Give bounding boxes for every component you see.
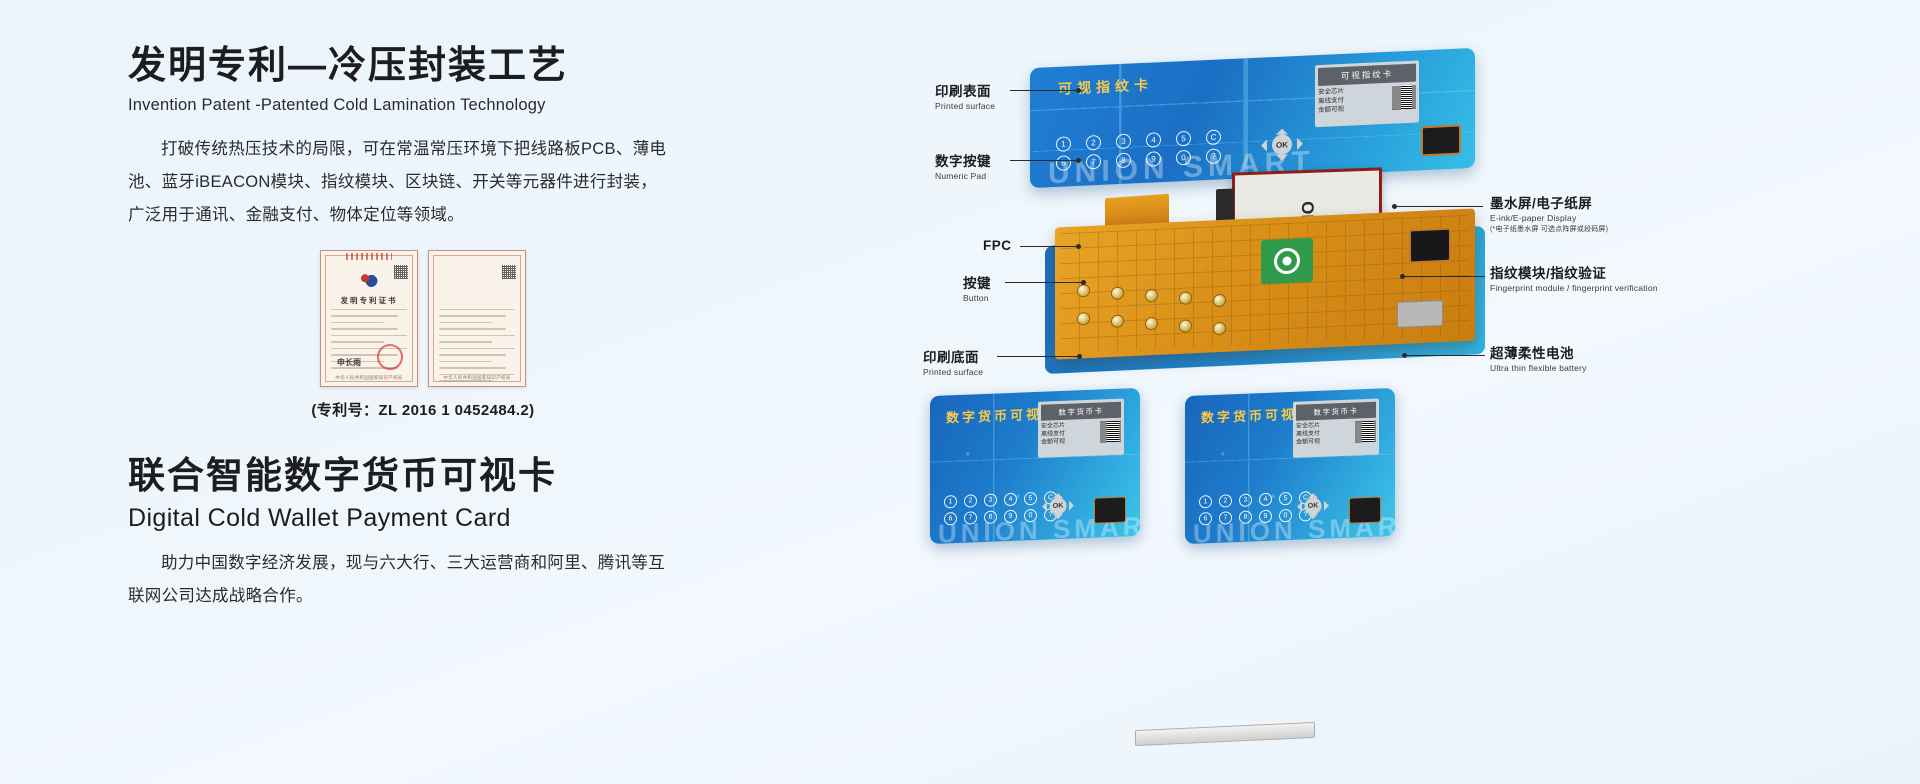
key-4: 4 xyxy=(1259,493,1272,506)
key-0: 0 xyxy=(1176,150,1191,166)
key-1: 1 xyxy=(1056,136,1071,152)
ok-button-label: OK xyxy=(1305,497,1322,515)
key-1: 1 xyxy=(1199,495,1212,508)
callout-fingerprint-module: 指纹模块/指纹验证 Fingerprint module / fingerpri… xyxy=(1490,262,1658,293)
pcb-trace-pattern-icon xyxy=(1061,215,1469,354)
screen-feature-lines: 安全芯片离线支付金额可视 xyxy=(1318,88,1344,115)
patent-office-logo-icon xyxy=(359,271,379,289)
key-5: 5 xyxy=(1024,492,1037,505)
callout-label-cn: FPC xyxy=(983,238,1012,253)
qr-code-icon xyxy=(394,265,408,279)
leader-line xyxy=(1395,206,1483,207)
callout-label-cn: 印刷底面 xyxy=(923,346,983,366)
callout-epaper-display: 墨水屏/电子纸屏 E-ink/E-paper Display (*电子纸墨水屏 … xyxy=(1490,192,1608,234)
callout-label-cn: 指纹模块/指纹验证 xyxy=(1490,262,1658,282)
key-3: 3 xyxy=(1116,134,1131,150)
fingerprint-sensor-icon xyxy=(1349,497,1381,524)
callout-numeric-pad: 数字按键 Numeric Pad xyxy=(935,150,991,181)
leader-line xyxy=(1020,246,1078,247)
callout-label-en: Printed surface xyxy=(935,101,995,111)
screen-feature-lines: 安全芯片离线支付金额可视 xyxy=(1296,423,1320,447)
directional-pad: OK xyxy=(1293,488,1333,524)
arrow-left-icon xyxy=(1255,139,1267,152)
callout-label-en: Button xyxy=(963,293,991,303)
flexible-battery-module xyxy=(1135,722,1315,746)
button-ring-icon xyxy=(1274,247,1300,274)
callout-label-en: Printed surface xyxy=(923,367,983,377)
screen-body: 安全芯片离线支付金额可视 xyxy=(1318,85,1416,116)
callout-flexible-battery: 超薄柔性电池 Ultra thin flexible battery xyxy=(1490,342,1587,373)
ornament-icon xyxy=(346,253,392,260)
key-2: 2 xyxy=(1219,494,1232,507)
key-4: 4 xyxy=(1146,132,1161,148)
key-8: 8 xyxy=(1116,153,1131,169)
callout-label-en: Numeric Pad xyxy=(935,171,991,181)
callout-label-en: Fingerprint module / fingerprint verific… xyxy=(1490,283,1658,293)
key-5: 5 xyxy=(1176,131,1191,147)
leader-line xyxy=(997,356,1079,357)
qr-code-icon xyxy=(1355,421,1376,443)
callout-label-cn: 数字按键 xyxy=(935,150,991,170)
key-c: C xyxy=(1206,129,1221,145)
qr-code-icon xyxy=(1392,85,1416,110)
key-4: 4 xyxy=(1004,493,1017,506)
fingerprint-sensor-icon xyxy=(1094,497,1126,524)
section2-heading-en: Digital Cold Wallet Payment Card xyxy=(128,504,708,533)
key-8: 8 xyxy=(1239,510,1252,523)
directional-pad: OK xyxy=(1257,124,1307,166)
key-9: 9 xyxy=(1259,510,1272,523)
arrow-left-icon xyxy=(1037,502,1047,512)
callout-label-note: (*电子纸墨水屏 可选点阵屏或段码屏) xyxy=(1490,224,1608,234)
callout-label-cn: 超薄柔性电池 xyxy=(1490,342,1587,362)
key-1: 1 xyxy=(944,495,957,508)
digital-currency-card-2: 数字货币可视卡 UNION SMART 数字货币卡 安全芯片离线支付金额可视 1… xyxy=(1185,388,1395,544)
key-6: 6 xyxy=(1056,155,1071,171)
callout-printed-bottom: 印刷底面 Printed surface xyxy=(923,346,983,377)
screen-body: 安全芯片离线支付金额可视 xyxy=(1041,421,1121,447)
leader-line xyxy=(1005,282,1083,283)
section1-heading-cn: 发明专利—冷压封装工艺 xyxy=(128,44,708,90)
key-6: 6 xyxy=(944,512,957,525)
digital-currency-card-1: 数字货币可视卡 UNION SMART 数字货币卡 安全芯片离线支付金额可视 1… xyxy=(930,388,1140,544)
arrow-down-icon xyxy=(1308,514,1318,524)
arrow-down-icon xyxy=(1276,154,1288,167)
card-display-screen: 可视指纹卡 安全芯片离线支付金额可视 xyxy=(1315,60,1419,127)
arrow-up-icon xyxy=(1276,122,1288,135)
arrow-left-icon xyxy=(1292,502,1302,512)
leader-line xyxy=(1403,276,1485,277)
screen-body: 安全芯片离线支付金额可视 xyxy=(1296,421,1376,447)
screen-feature-lines: 安全芯片离线支付金额可视 xyxy=(1041,423,1065,447)
section1-paragraph: 打破传统热压技术的局限，可在常温常压环境下把线路板PCB、薄电池、蓝牙iBEAC… xyxy=(128,133,673,232)
patent-certificate-gallery: 发明专利证书 申长雨 中华人民共和国国家知识产权局 中华人民共和国国家知识产权局 xyxy=(128,250,708,387)
fingerprint-sensor-icon xyxy=(1421,125,1461,157)
product-card-gallery: 数字货币可视卡 UNION SMART 数字货币卡 安全芯片离线支付金额可视 1… xyxy=(930,392,1395,540)
key-2: 2 xyxy=(964,494,977,507)
card-display-screen: 数字货币卡 安全芯片离线支付金额可视 xyxy=(1293,399,1379,458)
arrow-right-icon xyxy=(1069,500,1079,510)
screen-title-label: 可视指纹卡 xyxy=(1318,64,1416,86)
key-7: 7 xyxy=(1086,154,1101,170)
section2-paragraph: 助力中国数字经济发展，现与六大行、三大运营商和阿里、腾讯等互联网公司达成战略合作… xyxy=(128,547,673,613)
page-root: 发明专利—冷压封装工艺 Invention Patent -Patented C… xyxy=(0,0,1920,784)
callout-label-cn: 印刷表面 xyxy=(935,80,995,100)
ok-button-label: OK xyxy=(1050,497,1067,515)
key-9: 9 xyxy=(1004,510,1017,523)
key-0: 0 xyxy=(1024,509,1037,522)
leader-line xyxy=(1405,355,1485,356)
key-8: 8 xyxy=(984,510,997,523)
callout-label-en: E-ink/E-paper Display xyxy=(1490,213,1608,223)
qr-code-icon xyxy=(502,265,516,279)
callout-printed-surface: 印刷表面 Printed surface xyxy=(935,80,995,111)
key-9: 9 xyxy=(1146,151,1161,167)
callout-label-en: Ultra thin flexible battery xyxy=(1490,363,1587,373)
arrow-down-icon xyxy=(1053,514,1063,524)
card-display-screen: 数字货币卡 安全芯片离线支付金额可视 xyxy=(1038,399,1124,458)
certificate-signature: 申长雨 xyxy=(337,357,361,368)
leader-line xyxy=(1010,160,1078,161)
pcb-board xyxy=(1055,208,1475,359)
certificate-title: 发明专利证书 xyxy=(321,295,417,306)
section1-heading-en: Invention Patent -Patented Cold Laminati… xyxy=(128,96,708,115)
official-seal-icon xyxy=(377,344,403,370)
callout-label-cn: 按键 xyxy=(963,272,991,292)
pcb-fingerprint-module xyxy=(1409,228,1451,264)
patent-number-caption: (专利号：ZL 2016 1 0452484.2) xyxy=(128,399,708,420)
key-2: 2 xyxy=(1086,135,1101,151)
callout-label-cn: 墨水屏/电子纸屏 xyxy=(1490,192,1608,212)
key-5: 5 xyxy=(1279,492,1292,505)
callout-button: 按键 Button xyxy=(963,272,991,303)
key-7: 7 xyxy=(1219,511,1232,524)
key-3: 3 xyxy=(1239,493,1252,506)
key-extra: ? xyxy=(1206,148,1221,164)
screen-title-label: 数字货币卡 xyxy=(1296,402,1376,421)
section2-heading-cn: 联合智能数字货币可视卡 xyxy=(128,454,708,498)
pcb-ok-button-module xyxy=(1261,238,1313,284)
pcb-secure-chip xyxy=(1397,300,1443,328)
key-7: 7 xyxy=(964,511,977,524)
patent-certificate-image-2: 中华人民共和国国家知识产权局 xyxy=(428,250,526,387)
screen-title-label: 数字货币卡 xyxy=(1041,402,1121,421)
callout-fpc: FPC xyxy=(983,238,1012,253)
arrow-right-icon xyxy=(1297,137,1309,150)
patent-certificate-image-1: 发明专利证书 申长雨 中华人民共和国国家知识产权局 xyxy=(320,250,418,387)
section2-block: 联合智能数字货币可视卡 Digital Cold Wallet Payment … xyxy=(128,454,708,613)
key-0: 0 xyxy=(1279,509,1292,522)
ok-button-label: OK xyxy=(1272,134,1292,155)
card-front-face: 可视指纹卡 UNION SMART 可视指纹卡 安全芯片离线支付金额可视 1 2… xyxy=(1030,48,1475,188)
qr-code-icon xyxy=(1100,421,1121,443)
left-content-column: 发明专利—冷压封装工艺 Invention Patent -Patented C… xyxy=(128,44,708,613)
key-6: 6 xyxy=(1199,512,1212,525)
leader-line xyxy=(1010,90,1078,91)
directional-pad: OK xyxy=(1038,488,1078,524)
certificate-footer: 中华人民共和国国家知识产权局 xyxy=(321,375,417,381)
key-3: 3 xyxy=(984,493,997,506)
certificate-footer: 中华人民共和国国家知识产权局 xyxy=(429,375,525,381)
arrow-right-icon xyxy=(1324,500,1334,510)
